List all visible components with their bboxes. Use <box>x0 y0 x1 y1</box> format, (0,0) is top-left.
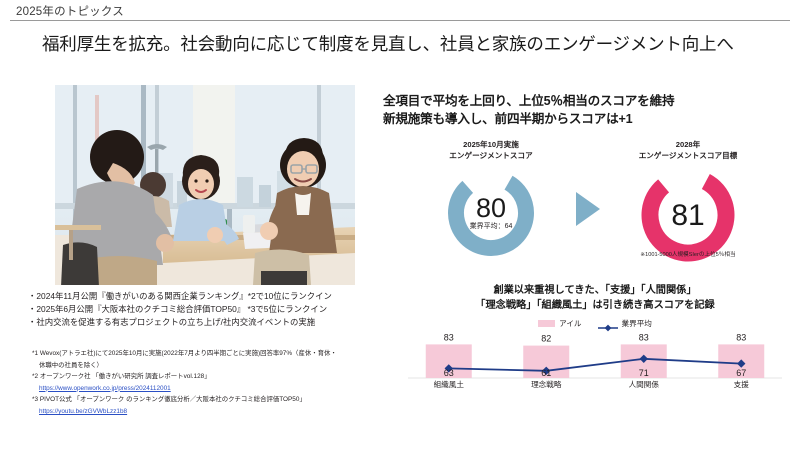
bar-value-label: 82 <box>541 334 551 344</box>
engagement-score-current: 2025年10月実施 エンゲージメントスコア 80 業界平均：64 <box>406 140 576 261</box>
chart-title-line1: 創業以来重視してきた、「支援」「人間関係」 <box>400 284 790 299</box>
legend-label-line: 業界平均 <box>622 318 652 329</box>
chart-title-line2: 「理念戦略」「組織風土」は引き続き高スコアを記録 <box>400 299 790 314</box>
chart-title: 創業以来重視してきた、「支援」「人間関係」 「理念戦略」「組織風土」は引き続き高… <box>400 284 790 313</box>
legend-swatch-bar-icon <box>538 320 555 327</box>
x-axis-label: 組織風土 <box>400 379 498 390</box>
office-meeting-photo <box>55 85 355 285</box>
footnote: *1 Wevox(アトラエ社)にて2025年10月に実施(2022年7月より四半… <box>32 348 412 360</box>
donut-right-caption-line2: エンゲージメントスコア目標 <box>598 151 778 162</box>
legend-swatch-line-icon <box>598 319 618 327</box>
donut-left-caption-line1: 2025年10月実施 <box>406 140 576 151</box>
x-axis-label: 理念戦略 <box>498 379 596 390</box>
footnote: https://youtu.be/zGVWbLzz1b8 <box>32 406 412 418</box>
bar-value-label: 83 <box>639 332 649 342</box>
donut-left-center: 80 業界平均：64 <box>443 165 539 261</box>
page-title: 福利厚生を拡充。社会動向に応じて制度を見直し、社員と家族のエンゲージメント向上へ <box>42 31 782 56</box>
topic-bullet-list: ・2024年11月公開『働きがいのある関西企業ランキング』*2で10位にランクイ… <box>28 290 398 330</box>
list-item: ・2024年11月公開『働きがいのある関西企業ランキング』*2で10位にランクイ… <box>28 290 398 303</box>
transition-arrow-icon <box>576 192 600 226</box>
footnote-link-openwork[interactable]: https://www.openwork.co.jp/press/2024112… <box>39 385 171 392</box>
footnote: 休職中の社員を除く） <box>32 360 412 372</box>
list-item: ・2025年6月公開『大阪本社のクチコミ総合評価TOP50』 *3で5位にランク… <box>28 303 398 316</box>
footnote: *3 PIVOT公式 「オープンワーク のランキング徹底分析／大阪本社のクチコミ… <box>32 394 412 406</box>
average-line <box>449 359 742 371</box>
photo-illustration <box>55 85 355 285</box>
right-lead-text: 全項目で平均を上回り、上位5％相当のスコアを維持 新規施策も導入し、前四半期から… <box>383 92 793 128</box>
legend-label-bar: アイル <box>559 318 581 329</box>
slide-kicker: 2025年のトピックス <box>16 3 124 19</box>
list-item: ・社内交流を促進する有志プロジェクトの立ち上げ/社内交流イベントの実施 <box>28 316 398 329</box>
footnote-text: 休職中の社員を除く） <box>39 362 103 369</box>
x-axis-label: 支援 <box>693 379 791 390</box>
donut-left-subtext: 業界平均：64 <box>470 222 513 231</box>
footnote-list: *1 Wevox(アトラエ社)にて2025年10月に実施(2022年7月より四半… <box>32 348 412 418</box>
legend-item-bar: アイル <box>538 318 581 329</box>
footnote: *2 オープンワーク社 「働きがい研究所 調査レポートvol.128」 <box>32 371 412 383</box>
bar-value-label: 83 <box>444 332 454 342</box>
donut-left-caption-line2: エンゲージメントスコア <box>406 151 576 162</box>
footnote-text: *3 PIVOT公式 「オープンワーク のランキング徹底分析／大阪本社のクチコミ… <box>32 396 306 403</box>
line-value-label: 61 <box>541 368 551 378</box>
footnote-text: *1 Wevox(アトラエ社)にて2025年10月に実施(2022年7月より四半… <box>32 350 337 357</box>
engagement-score-target: 2028年 エンゲージメントスコア目標 81 <box>598 140 778 267</box>
line-value-label: 67 <box>736 368 746 378</box>
donut-left-chart: 80 業界平均：64 <box>443 165 539 261</box>
legend-item-line: 業界平均 <box>598 318 652 329</box>
slide-header: 2025年のトピックス <box>0 0 800 22</box>
bar-value-label: 83 <box>736 332 746 342</box>
footnote-link-pivot[interactable]: https://youtu.be/zGVWbLzz1b8 <box>39 408 127 415</box>
line-value-label: 71 <box>639 368 649 378</box>
donut-right-note: ※1001-5000人規模SIerの上位5％相当 <box>598 250 778 258</box>
right-lead-line1: 全項目で平均を上回り、上位5％相当のスコアを維持 <box>383 92 793 110</box>
donut-right-value: 81 <box>671 201 704 230</box>
footnote-text: *2 オープンワーク社 「働きがい研究所 調査レポートvol.128」 <box>32 373 211 380</box>
donut-right-caption: 2028年 エンゲージメントスコア目標 <box>598 140 778 161</box>
donut-left-caption: 2025年10月実施 エンゲージメントスコア <box>406 140 576 161</box>
footnote: https://www.openwork.co.jp/press/2024112… <box>32 383 412 395</box>
header-divider <box>10 20 790 21</box>
donut-right-caption-line1: 2028年 <box>598 140 778 151</box>
donut-left-value: 80 <box>476 195 506 221</box>
x-axis-label: 人間関係 <box>595 379 693 390</box>
right-lead-line2: 新規施策も導入し、前四半期からスコアは+1 <box>383 110 793 128</box>
arrow-right-icon <box>576 192 600 226</box>
line-value-label: 63 <box>444 368 454 378</box>
chart-x-axis-labels: 組織風土 理念戦略 人間関係 支援 <box>400 379 790 390</box>
